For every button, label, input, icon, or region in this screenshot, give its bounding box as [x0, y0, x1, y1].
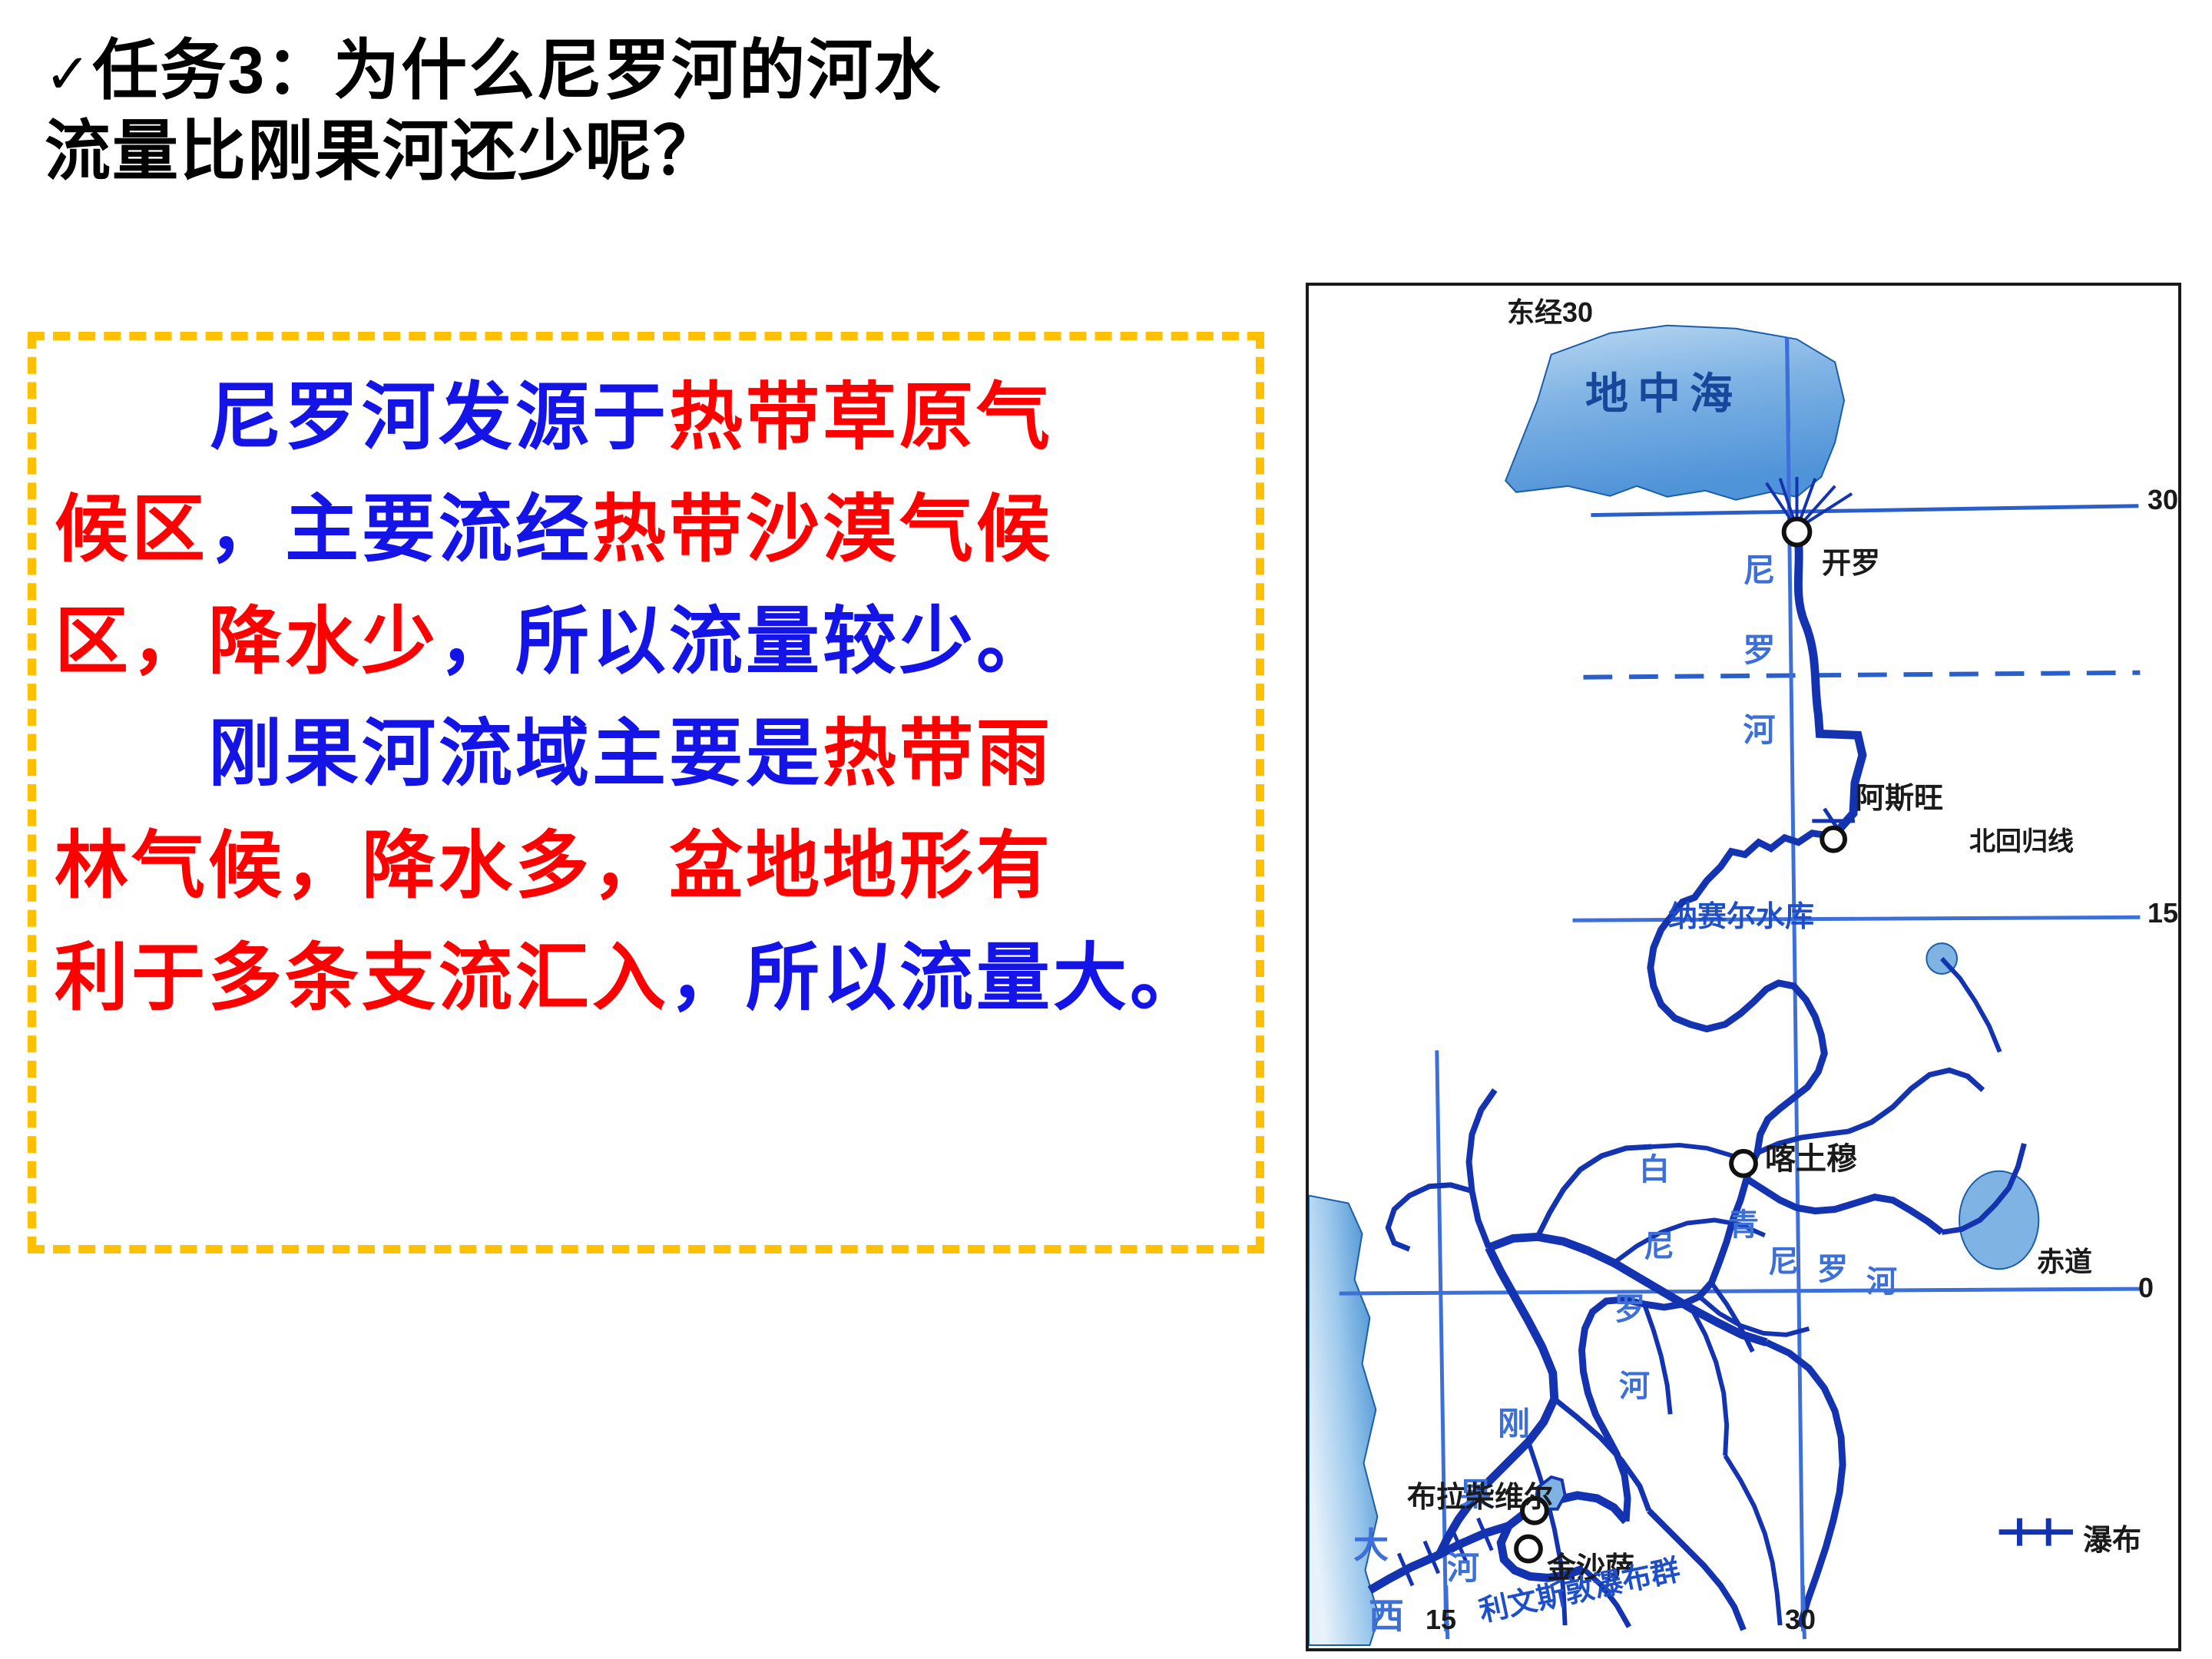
- label-blue-nile-char2: 尼: [1768, 1237, 1799, 1281]
- cairo-city-dot: [1784, 519, 1810, 545]
- answer-seg: 候区: [55, 488, 208, 571]
- label-blue-nile-char1: 青: [1728, 1200, 1759, 1244]
- answer-seg: 尼罗河发源于: [208, 376, 669, 459]
- label-nile-river: 尼罗河: [1740, 553, 1773, 793]
- label-white-nile-char1: 白: [1639, 1144, 1670, 1189]
- africa-rivers-map: 东经30 地中海 开罗 尼罗河 阿斯旺 北回归线 纳赛尔水库 喀土穆 白 尼 罗…: [1306, 283, 2181, 1651]
- checkmark-icon: ✓: [45, 41, 92, 106]
- answer-line-3: 区，降水少，所以流量较少。: [55, 586, 1237, 698]
- graticule-label-lon-30e: 30: [1785, 1604, 1816, 1636]
- atlantic-ocean-shape: [1309, 1196, 1379, 1645]
- parallel-30n: [1591, 506, 2138, 515]
- answer-line-5: 林气候，降水多，盆地地形有: [55, 810, 1237, 922]
- title-line-1-text: 任务3：为什么尼罗河的河水: [92, 34, 942, 108]
- congo-tributary-s5: [1725, 1455, 1780, 1625]
- answer-seg: ，主要流经: [208, 488, 592, 571]
- khartoum-city-dot: [1731, 1151, 1756, 1176]
- tropic-of-cancer-line: [1583, 673, 2140, 677]
- label-lake-nasser: 纳赛尔水库: [1668, 892, 1814, 935]
- label-equator: 赤道: [2037, 1240, 2092, 1280]
- label-blue-nile-char3: 罗: [1817, 1244, 1848, 1289]
- answer-seg: 利于多条支流汇入: [55, 937, 669, 1019]
- label-white-nile-char4: 河: [1619, 1361, 1650, 1406]
- aswan-city-dot: [1822, 828, 1845, 851]
- congo-mouth: [1369, 1526, 1508, 1591]
- answer-seg: ，所以流量大。: [669, 937, 1207, 1019]
- answer-seg: 热带沙漠气候: [592, 488, 1053, 571]
- lake-victoria-shape: [1959, 1171, 2038, 1269]
- label-cairo: 开罗: [1822, 539, 1880, 581]
- answer-textbox-content: 尼罗河发源于热带草原气 候区，主要流经热带沙漠气候 区，降水少，所以流量较少。 …: [36, 340, 1256, 1034]
- graticule-label-lat-15n: 15: [2147, 897, 2178, 929]
- answer-line-4: 刚果河流域主要是热带雨: [55, 698, 1237, 810]
- graticule-label-lon-15e: 15: [1426, 1604, 1456, 1636]
- label-white-nile-char2: 尼: [1644, 1221, 1674, 1266]
- legend-waterfall-label: 瀑布: [2083, 1516, 2141, 1558]
- graticule-label-lat-0: 0: [2138, 1272, 2154, 1304]
- label-khartoum: 喀土穆: [1765, 1134, 1857, 1178]
- label-blue-nile-char4: 河: [1866, 1257, 1897, 1301]
- congo-tributary-s4: [1691, 1309, 1727, 1455]
- label-mediterranean-sea: 地中海: [1585, 359, 1742, 422]
- label-east-longitude-30: 东经30: [1507, 290, 1593, 330]
- label-aswan: 阿斯旺: [1856, 774, 1943, 816]
- answer-seg: ，所以流量较少。: [439, 601, 1053, 683]
- congo-tributary-north-2: [1538, 1147, 1652, 1237]
- lake-nasser-shape: [1651, 833, 1833, 1153]
- parallel-15n: [1573, 917, 2141, 920]
- answer-seg: 林气候，降水多，盆地地形有: [55, 825, 1053, 907]
- title-line-1: ✓任务3：为什么尼罗河的河水: [45, 31, 1304, 111]
- blue-nile: [1747, 1179, 1942, 1233]
- answer-line-1: 尼罗河发源于热带草原气: [55, 362, 1237, 474]
- title-line-2: 流量比刚果河还少呢？: [45, 111, 1304, 192]
- legend-waterfall-symbol: [1999, 1518, 2073, 1546]
- label-tropic-of-cancer: 北回归线: [1969, 820, 2074, 858]
- answer-seg: 刚果河流域主要是: [208, 713, 823, 795]
- answer-line-2: 候区，主要流经热带沙漠气候: [55, 474, 1237, 586]
- answer-textbox: 尼罗河发源于热带草原气 候区，主要流经热带沙漠气候 区，降水少，所以流量较少。 …: [28, 332, 1264, 1253]
- answer-line-6: 利于多条支流汇入，所以流量大。: [55, 922, 1237, 1035]
- kinshasa-city-dot: [1516, 1537, 1541, 1561]
- lake-tana-outflow: [1942, 959, 1999, 1051]
- tick-lon-30e-top: [1787, 338, 1789, 431]
- label-congo-river-char1: 刚: [1498, 1398, 1530, 1445]
- label-atlantic-ocean-char1: 大: [1353, 1518, 1389, 1568]
- page-title: ✓任务3：为什么尼罗河的河水 流量比刚果河还少呢？: [45, 31, 1304, 192]
- parallel-equator: [1339, 1289, 2141, 1293]
- label-congo-river-char3: 河: [1447, 1542, 1479, 1589]
- answer-seg: 区，降水少: [55, 601, 439, 683]
- label-brazzaville: 布拉柴维尔: [1407, 1473, 1553, 1515]
- congo-tributary-north-1: [1388, 1185, 1472, 1250]
- label-white-nile-char3: 罗: [1614, 1284, 1645, 1329]
- label-atlantic-ocean-char2: 西: [1369, 1588, 1404, 1639]
- answer-seg: 热带雨: [823, 713, 1053, 795]
- sobat-river: [1699, 1296, 1809, 1335]
- graticule-label-lat-30n: 30: [2147, 484, 2178, 516]
- answer-seg: 热带草原气: [669, 376, 1053, 459]
- map-graphics: [1309, 286, 2178, 1648]
- ubangi-river: [1469, 1090, 1495, 1247]
